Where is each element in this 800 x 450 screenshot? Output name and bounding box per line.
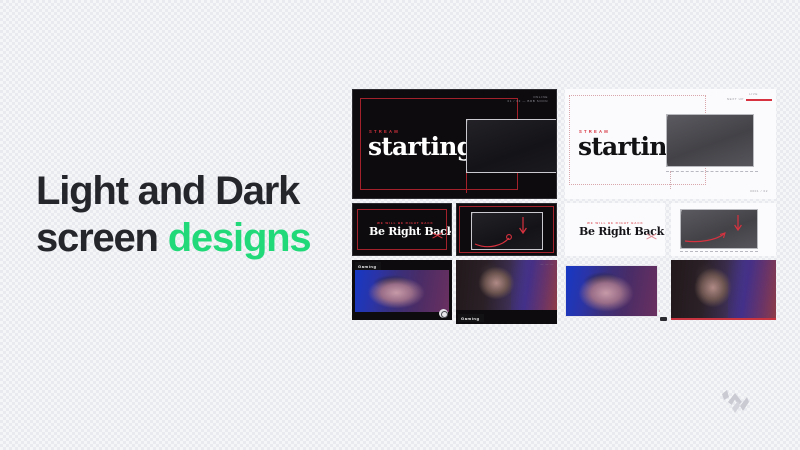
dark-hero-panel[interactable]: STREAM starting ONLINE 01 / 03 — BRB SOO… — [352, 89, 557, 199]
dark-cam-b-video — [456, 260, 557, 310]
light-hero-panel[interactable]: STREAM starting LIVE NEXT UP 0001 / 02 — [565, 89, 776, 199]
soccer-ball-icon — [439, 309, 448, 318]
mini-red-mark: r — [659, 309, 661, 314]
dark-brb-media-panel[interactable] — [456, 203, 557, 256]
webcam-image — [566, 266, 657, 316]
dark-hero-red-tick — [466, 173, 467, 193]
headline-block: Light and Dark screen designs — [36, 168, 366, 262]
dark-hero-title: starting — [368, 134, 473, 159]
light-hero-corner-note-2: NEXT UP — [727, 97, 744, 102]
headline-plain: screen — [36, 216, 168, 260]
dark-theme-column: STREAM starting ONLINE 01 / 03 — BRB SOO… — [352, 89, 557, 335]
x-mark-icon — [432, 229, 443, 240]
headline-line-1: Light and Dark — [36, 168, 366, 215]
dark-cam-panel-a[interactable]: Gaming — [352, 260, 452, 320]
light-hero-thumbnail — [666, 114, 754, 167]
dark-cam-a-video — [355, 270, 449, 312]
glow-overlay — [511, 260, 557, 310]
dark-cam-a-badge: Gaming — [355, 262, 381, 270]
slide-canvas: Light and Dark screen designs STREAM sta… — [0, 0, 800, 450]
light-cam-b-video — [671, 260, 776, 320]
dot-guide-decor — [670, 171, 671, 189]
dark-cam-b-corner-note: — — — — [540, 262, 554, 267]
dark-hero-thumbnail — [466, 119, 557, 173]
dark-cam-panel-b[interactable]: Gaming — — — — [456, 260, 557, 324]
dark-hero-corner-note-2: 01 / 03 — BRB SOON — [508, 99, 548, 104]
dash-guide-decor — [680, 251, 758, 252]
webcam-image — [355, 270, 449, 312]
light-cam-panel-a[interactable] — [565, 265, 658, 317]
light-brb-panel[interactable]: WE WILL BE RIGHT BACK Be Right Back — [565, 203, 665, 256]
dash-guide-decor — [666, 171, 758, 172]
brand-logo — [718, 388, 754, 418]
brand-logo-icon — [718, 388, 754, 418]
light-hero-corner-note-1: LIVE — [749, 92, 758, 97]
mini-chip-decor — [660, 317, 667, 321]
dark-cam-b-badge: Gaming — [458, 314, 484, 322]
light-theme-column: STREAM starting LIVE NEXT UP 0001 / 02 W… — [565, 89, 776, 335]
light-brb-media-panel[interactable] — [671, 203, 776, 256]
dark-brb-panel[interactable]: WE WILL BE RIGHT BACK Be Right Back — [352, 203, 452, 256]
glow-overlay — [728, 260, 776, 320]
light-cam-a-video — [565, 265, 658, 317]
x-mark-icon — [646, 230, 657, 241]
light-cam-panel-b[interactable]: — — — — [671, 260, 776, 320]
arrow-annotation-icon — [471, 212, 543, 250]
mockup-board: STREAM starting ONLINE 01 / 03 — BRB SOO… — [352, 89, 776, 335]
red-underline-decor — [671, 318, 776, 320]
light-hero-footer-note: 0001 / 02 — [750, 189, 768, 194]
red-bar-decor — [746, 99, 772, 101]
arrow-annotation-icon — [680, 209, 758, 249]
headline-line-2: screen designs — [36, 215, 366, 262]
headline-accent: designs — [168, 216, 311, 260]
